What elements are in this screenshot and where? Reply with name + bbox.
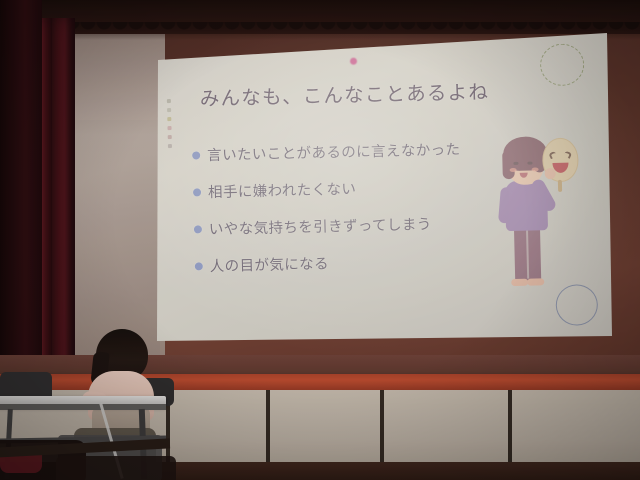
slide-dot-column — [167, 99, 176, 148]
list-item: 人の目が気になる — [195, 249, 464, 276]
dashed-circle-decoration — [540, 43, 585, 86]
stage-curtain-left-shadow — [0, 0, 42, 400]
presentation-photo-scene: みんなも、こんなことあるよね 言いたいことがあるのに言えなかった 相手に嫌われた… — [0, 0, 640, 480]
pink-accent-dot — [350, 58, 357, 65]
stage-panel-divider — [380, 390, 384, 472]
girl-with-mask-illustration — [484, 127, 588, 294]
foreground-object-dark-2 — [56, 456, 176, 480]
bullet-text: いやな気持ちを引きずってしまう — [209, 213, 432, 239]
bullet-marker-icon — [194, 225, 202, 233]
bullet-marker-icon — [195, 262, 203, 270]
slide-bullet-list: 言いたいことがあるのに言えなかった 相手に嫌われたくない いやな気持ちを引きずっ… — [192, 138, 463, 276]
list-item: いやな気持ちを引きずってしまう — [194, 212, 463, 239]
bullet-text: 言いたいことがあるのに言えなかった — [207, 138, 461, 165]
stage-panel-divider — [508, 390, 512, 472]
stage-panel-divider — [266, 390, 270, 472]
slide-surface: みんなも、こんなことあるよね 言いたいことがあるのに言えなかった 相手に嫌われた… — [155, 32, 615, 344]
bullet-text: 人の目が気になる — [210, 252, 330, 276]
bullet-text: 相手に嫌われたくない — [208, 178, 357, 202]
bullet-marker-icon — [193, 188, 201, 196]
bullet-marker-icon — [192, 151, 200, 159]
side-wall-shading — [70, 30, 165, 380]
slide-title: みんなも、こんなことあるよね — [199, 76, 489, 112]
list-item: 相手に嫌われたくない — [193, 175, 462, 202]
list-item: 言いたいことがあるのに言えなかった — [192, 138, 461, 165]
